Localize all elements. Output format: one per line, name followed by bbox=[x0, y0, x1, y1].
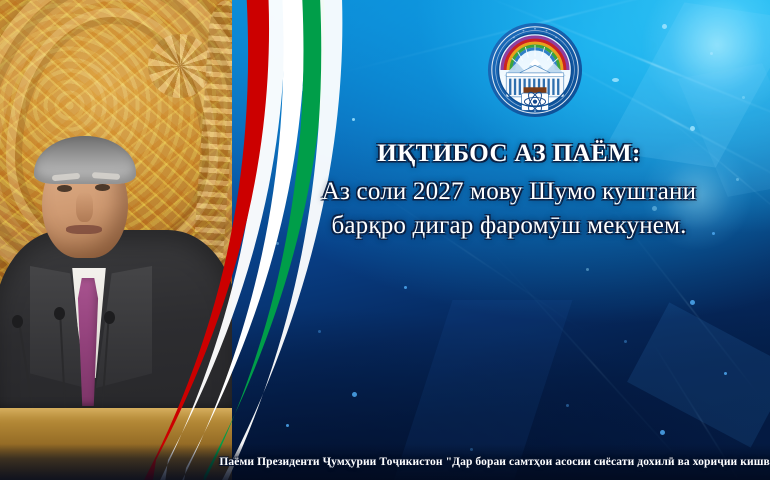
microphone-head-3 bbox=[104, 311, 115, 324]
quote-block: ИҚТИБОС АЗ ПАЁМ: Аз соли 2027 мову Шумо … bbox=[258, 140, 760, 243]
eye-right bbox=[95, 184, 110, 191]
source-caption: Паёми Президенти Ҷумҳурии Тоҷикистон "Да… bbox=[0, 456, 770, 468]
poster-canvas: ИҚТИБОС АЗ ПАЁМ: Аз соли 2027 мову Шумо … bbox=[0, 0, 770, 480]
caption-bar: Паёми Президенти Ҷумҳурии Тоҷикистон "Да… bbox=[0, 444, 770, 480]
quote-line-1: Аз соли 2027 мову Шумо куштани bbox=[258, 175, 760, 209]
microphone-head-1 bbox=[12, 315, 23, 328]
hair bbox=[34, 136, 136, 184]
nose bbox=[76, 192, 93, 222]
microphone-head-2 bbox=[54, 307, 65, 320]
mouth bbox=[66, 225, 102, 234]
eye-left bbox=[57, 185, 72, 192]
quote-line-2: барқро дигар фаромӯш мекунем. bbox=[258, 209, 760, 243]
government-of-tajikistan-emblem bbox=[487, 22, 583, 118]
quote-heading: ИҚТИБОС АЗ ПАЁМ: bbox=[258, 140, 760, 168]
